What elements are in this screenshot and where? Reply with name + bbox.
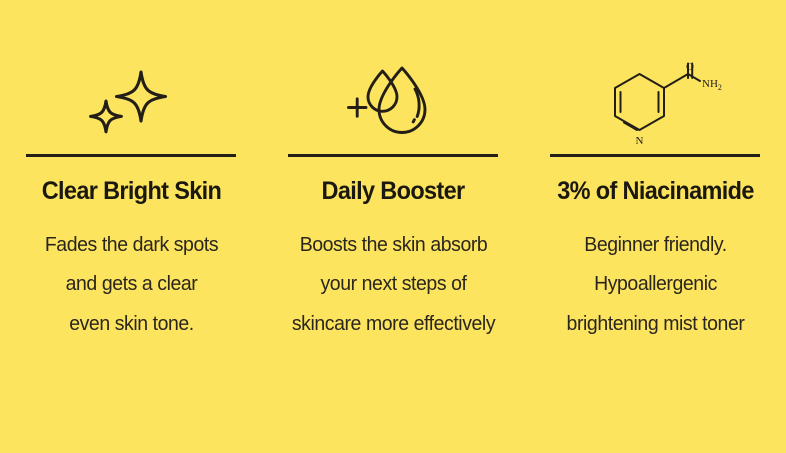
icon-slot-molecule: O N NH2 [524,55,786,150]
sparkles-icon [83,64,179,142]
divider-line [26,154,236,157]
molecule-nitrogen-label: N [636,135,644,147]
feature-column-clear-bright-skin: Clear Bright Skin Fades the dark spots a… [0,55,262,395]
feature-body-text: Fades the dark spots and gets a clear ev… [10,225,252,343]
body-line: and gets a clear [10,264,252,303]
icon-slot-water-drop [262,55,524,150]
molecule-oxygen-label: O [686,61,694,73]
feature-heading: Clear Bright Skin [41,179,220,204]
body-line: Hypoallergenic [534,264,776,303]
feature-column-daily-booster: Daily Booster Boosts the skin absorb you… [262,55,524,395]
body-line: brightening mist toner [534,304,776,343]
divider-line [550,154,760,157]
molecule-amine-label: NH2 [702,78,722,92]
body-line: skincare more effectively [272,304,514,343]
feature-column-niacinamide: O N NH2 3% of Niacinamide Beginner frien… [524,55,786,395]
feature-body-text: Beginner friendly. Hypoallergenic bright… [534,225,776,343]
icon-slot-sparkles [0,55,262,150]
feature-heading: 3% of Niacinamide [557,179,753,204]
body-line: Beginner friendly. [534,225,776,264]
divider-line [288,154,498,157]
feature-benefits-panel: Clear Bright Skin Fades the dark spots a… [0,0,786,453]
feature-body-text: Boosts the skin absorb your next steps o… [272,225,514,343]
body-line: even skin tone. [10,304,252,343]
feature-heading: Daily Booster [322,179,465,204]
water-drop-plus-icon [345,62,441,144]
body-line: Boosts the skin absorb [272,225,514,264]
body-line: your next steps of [272,264,514,303]
body-line: Fades the dark spots [10,225,252,264]
niacinamide-molecule-icon: O N NH2 [597,60,713,146]
